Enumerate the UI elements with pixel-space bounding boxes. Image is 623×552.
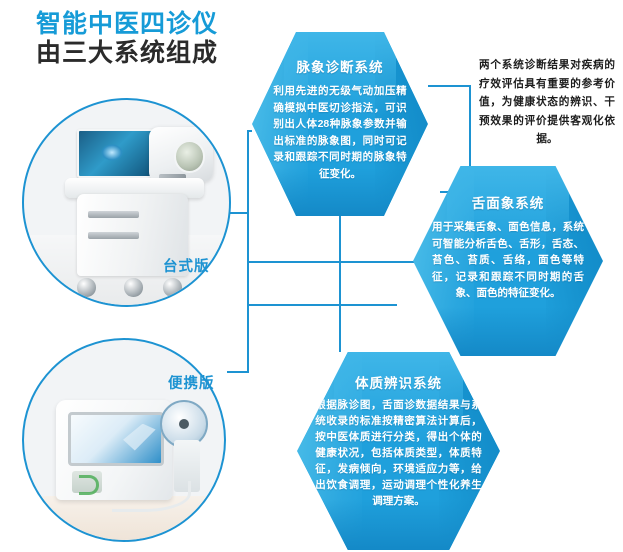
device-photo-portable bbox=[22, 338, 226, 542]
system-body-constitution: 根据脉诊图，舌面诊数据结果与系统收录的标准按精密算法计算后，按中医体质进行分类，… bbox=[315, 398, 481, 510]
cabinet-drawer bbox=[88, 232, 139, 239]
caster-wheel bbox=[77, 278, 95, 296]
system-body-tongue: 用于采集舌象、面色信息，系统可智能分析舌色、舌形，舌态、苔色、苔质、舌络，面色等… bbox=[432, 219, 584, 302]
device-label-portable: 便携版 bbox=[168, 372, 215, 393]
device-label-desktop: 台式版 bbox=[163, 255, 210, 276]
camera-lens-icon bbox=[174, 140, 205, 173]
side-note-text: 两个系统诊断结果对疾病的疗效评估具有重要的参考价值，为健康状态的辨识、干预效果的… bbox=[479, 56, 615, 149]
cabinet-drawer bbox=[88, 211, 139, 218]
caster-wheel bbox=[124, 278, 142, 296]
hex-face-bottom bbox=[436, 307, 580, 356]
device-display bbox=[68, 412, 164, 466]
system-body-pulse: 利用先进的无级气动加压精确模拟中医切诊指法，可识别出人体28种脉象参数并输出标准… bbox=[271, 83, 408, 182]
connector-bracket-spine bbox=[227, 213, 248, 372]
device-display bbox=[77, 129, 159, 178]
caster-wheel bbox=[163, 278, 181, 296]
infographic-canvas: 智能中医四诊仪 由三大系统组成 bbox=[0, 0, 623, 552]
portable-device-illustration bbox=[24, 340, 224, 540]
sensor-pad-icon bbox=[72, 471, 102, 493]
